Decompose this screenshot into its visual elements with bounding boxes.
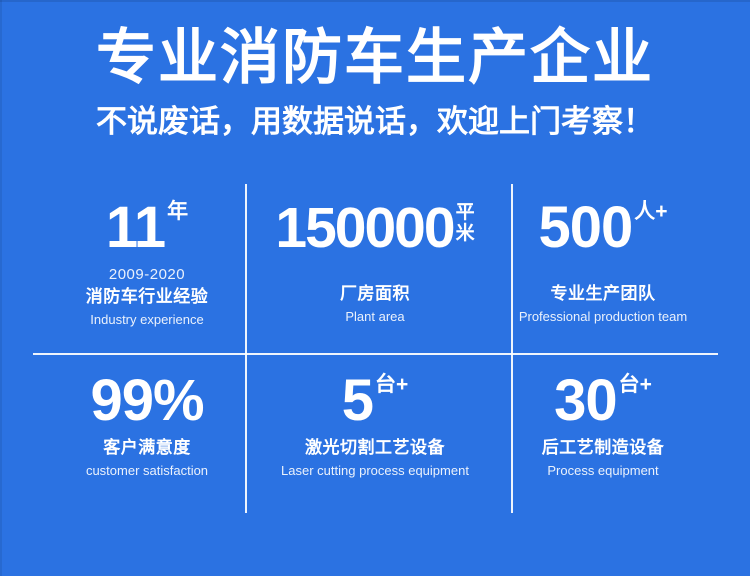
stat-value-row: 500 人+ bbox=[538, 199, 667, 257]
stat-unit-char-2: 米 bbox=[456, 223, 475, 244]
stat-cell-industry-experience: 11 年 2009-2020 消防车行业经验 Industry experien… bbox=[33, 183, 261, 348]
stat-label-en: Process equipment bbox=[547, 462, 658, 479]
stat-value-row: 150000 平 米 bbox=[275, 199, 474, 257]
headline-title: 专业消防车生产企业 bbox=[0, 22, 750, 94]
stat-unit: 年 bbox=[167, 201, 188, 223]
stat-label-en: customer satisfaction bbox=[86, 462, 208, 479]
stat-value-row: 5 台+ bbox=[342, 372, 409, 430]
stat-value: 11 bbox=[106, 199, 165, 257]
stat-value: 500 bbox=[538, 199, 632, 257]
stat-value-row: 99% bbox=[90, 372, 203, 430]
stat-cell-laser-cutting-equipment: 5 台+ 激光切割工艺设备 Laser cutting process equi… bbox=[261, 348, 489, 513]
stat-unit-char-1: 平 bbox=[456, 202, 475, 223]
stat-label-cn: 消防车行业经验 bbox=[86, 286, 209, 308]
stat-label-cn: 激光切割工艺设备 bbox=[305, 437, 445, 459]
stat-label-en: Plant area bbox=[345, 308, 404, 325]
stats-grid: 11 年 2009-2020 消防车行业经验 Industry experien… bbox=[33, 183, 717, 513]
stat-value: 30 bbox=[554, 372, 617, 430]
stat-cell-production-team: 500 人+ 专业生产团队 Professional production te… bbox=[489, 183, 717, 348]
stat-value-row: 11 年 bbox=[106, 199, 188, 257]
stat-label-cn: 专业生产团队 bbox=[551, 283, 656, 305]
headline-subtitle: 不说废话，用数据说话，欢迎上门考察！ bbox=[0, 102, 750, 142]
banner-header: 专业消防车生产企业 不说废话，用数据说话，欢迎上门考察！ bbox=[0, 22, 750, 142]
stat-value-row: 30 台+ bbox=[554, 372, 652, 430]
promo-banner: 专业消防车生产企业 不说废话，用数据说话，欢迎上门考察！ 11 年 2009-2… bbox=[0, 0, 750, 576]
stat-unit: 台+ bbox=[375, 374, 408, 396]
stat-cell-customer-satisfaction: 99% 客户满意度 customer satisfaction bbox=[33, 348, 261, 513]
stat-label-en: Laser cutting process equipment bbox=[281, 462, 469, 479]
stat-unit: 人+ bbox=[634, 201, 667, 223]
stat-value: 99% bbox=[90, 372, 203, 430]
stat-cell-plant-area: 150000 平 米 厂房面积 Plant area bbox=[261, 183, 489, 348]
stat-unit: 台+ bbox=[619, 374, 652, 396]
stat-label-en: Industry experience bbox=[90, 311, 203, 328]
stat-note: 2009-2020 bbox=[109, 266, 185, 284]
stat-label-cn: 厂房面积 bbox=[340, 283, 410, 305]
stat-value: 150000 bbox=[275, 199, 453, 257]
stat-label-cn: 后工艺制造设备 bbox=[542, 437, 665, 459]
stat-label-cn: 客户满意度 bbox=[103, 437, 191, 459]
stat-cell-process-equipment: 30 台+ 后工艺制造设备 Process equipment bbox=[489, 348, 717, 513]
stat-label-en: Professional production team bbox=[519, 308, 687, 325]
stat-value: 5 bbox=[342, 372, 373, 430]
stat-unit: 平 米 bbox=[456, 202, 475, 244]
